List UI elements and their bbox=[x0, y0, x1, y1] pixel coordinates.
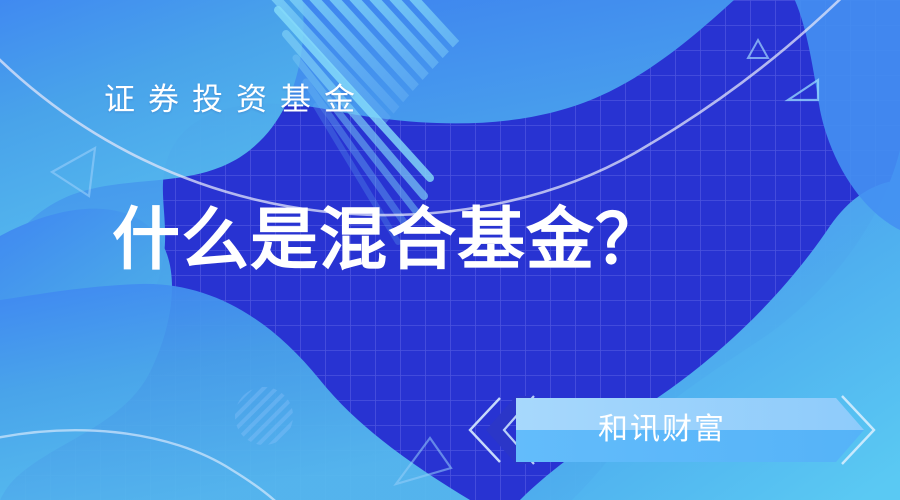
ribbon-plate bbox=[0, 0, 900, 500]
promo-banner: 证券投资基金 什么是混合基金？ 和讯财富 bbox=[0, 0, 900, 500]
ribbon-body-bottom bbox=[516, 430, 864, 462]
ribbon-body-top bbox=[516, 398, 864, 430]
